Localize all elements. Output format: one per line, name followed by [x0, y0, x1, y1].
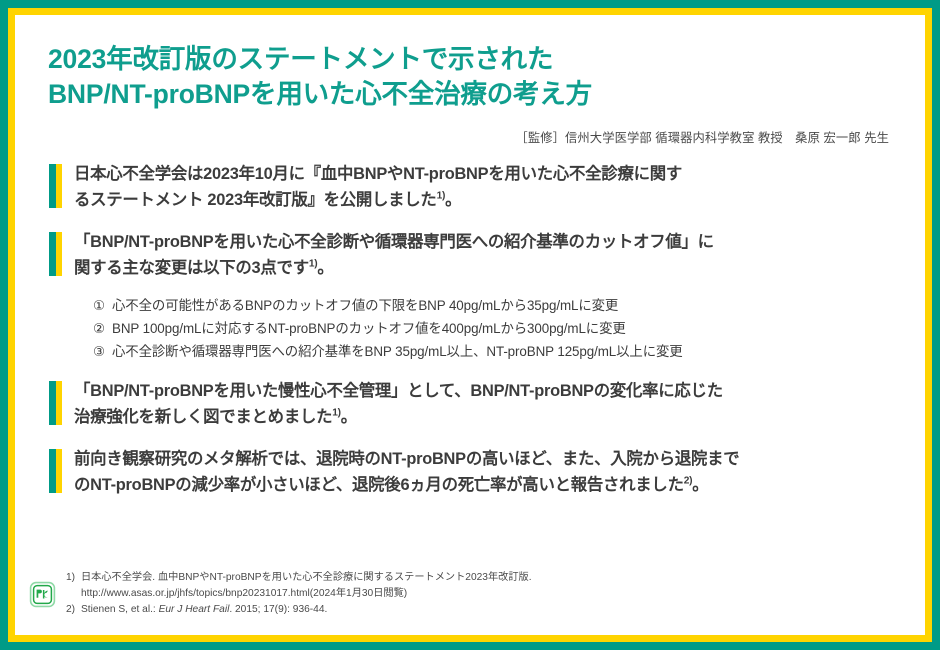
slide-outer-frame: 2023年改訂版のステートメントで示された BNP/NT-proBNPを用いた心… [0, 0, 940, 650]
bullet-text-1-main: 日本心不全学会は2023年10月に『血中BNPやNT-proBNPを用いた心不全… [74, 165, 682, 208]
numbered-list-text-3: 心不全診断や循環器専門医への紹介基準をBNP 35pg/mL以上、NT-proB… [112, 340, 899, 363]
slide-page: 2023年改訂版のステートメントで示された BNP/NT-proBNPを用いた心… [15, 15, 925, 635]
bullet-bar-yellow [56, 381, 62, 425]
numbered-list-marker-1: ① [93, 294, 112, 317]
reference-text-2: Stienen S, et al.: Eur J Heart Fail. 201… [81, 602, 925, 618]
bullet-text-2-main: 「BNP/NT-proBNPを用いた心不全診断や循環器専門医への紹介基準のカット… [74, 233, 714, 276]
bullet-item-3: 「BNP/NT-proBNPを用いた慢性心不全管理」として、BNP/NT-pro… [49, 379, 899, 430]
bullet-bar-teal [49, 449, 56, 493]
numbered-list-marker-2: ② [93, 317, 112, 340]
bullet-bar-teal [49, 381, 56, 425]
reference-citation-2: . 2015; 17(9): 936-44. [229, 604, 327, 615]
numbered-list-item: ③ 心不全診断や循環器専門医への紹介基準をBNP 35pg/mL以上、NT-pr… [93, 340, 899, 363]
slide-footer: 1) 日本心不全学会. 血中BNPやNT-proBNPを用いた心不全診療に関する… [15, 570, 925, 618]
page-title: 2023年改訂版のステートメントで示された BNP/NT-proBNPを用いた心… [48, 42, 897, 112]
bullet-marker-icon [49, 381, 62, 425]
bullet-bar-teal [49, 232, 56, 276]
reference-authors-2: Stienen S, et al.: [81, 604, 159, 615]
reference-journal-2: Eur J Heart Fail [159, 604, 230, 615]
numbered-list-text-2: BNP 100pg/mLに対応するNT-proBNPのカットオフ値を400pg/… [112, 317, 899, 340]
bullet-item-4: 前向き観察研究のメタ解析では、退院時のNT-proBNPの高いほど、また、入院か… [49, 447, 899, 498]
bullet-text-1: 日本心不全学会は2023年10月に『血中BNPやNT-proBNPを用いた心不全… [74, 162, 899, 213]
bullet-text-4: 前向き観察研究のメタ解析では、退院時のNT-proBNPの高いほど、また、入院か… [74, 447, 899, 498]
slide-body: 日本心不全学会は2023年10月に『血中BNPやNT-proBNPを用いた心不全… [15, 146, 925, 498]
bullet-bar-yellow [56, 164, 62, 208]
reference-item-2: 2) Stienen S, et al.: Eur J Heart Fail. … [66, 602, 925, 618]
reference-text-1: 日本心不全学会. 血中BNPやNT-proBNPを用いた心不全診療に関するステー… [81, 570, 925, 586]
reference-url-1[interactable]: http://www.asas.or.jp/jhfs/topics/bnp202… [66, 586, 925, 602]
bullet-ref-sup-3: 1) [332, 407, 341, 418]
pc-logo-icon [29, 581, 56, 608]
bullet-text-3-tail: 。 [341, 408, 357, 426]
bullet-text-2: 「BNP/NT-proBNPを用いた心不全診断や循環器専門医への紹介基準のカット… [74, 230, 899, 281]
reference-number-2: 2) [66, 602, 81, 618]
numbered-list-marker-3: ③ [93, 340, 112, 363]
bullet-text-3: 「BNP/NT-proBNPを用いた慢性心不全管理」として、BNP/NT-pro… [74, 379, 899, 430]
bullet-text-3-main: 「BNP/NT-proBNPを用いた慢性心不全管理」として、BNP/NT-pro… [74, 382, 723, 425]
bullet-ref-sup-4: 2) [684, 475, 693, 486]
bullet-ref-sup-1: 1) [437, 190, 446, 201]
reference-number-1: 1) [66, 570, 81, 586]
bullet-marker-icon [49, 449, 62, 493]
bullet-text-4-main: 前向き観察研究のメタ解析では、退院時のNT-proBNPの高いほど、また、入院か… [74, 450, 739, 493]
bullet-text-4-tail: 。 [692, 476, 708, 494]
bullet-marker-icon [49, 164, 62, 208]
numbered-list-item: ① 心不全の可能性があるBNPのカットオフ値の下限をBNP 40pg/mLから3… [93, 294, 899, 317]
bullet-item-2: 「BNP/NT-proBNPを用いた心不全診断や循環器専門医への紹介基準のカット… [49, 230, 899, 281]
slide-header: 2023年改訂版のステートメントで示された BNP/NT-proBNPを用いた心… [15, 15, 925, 146]
bullet-item-1: 日本心不全学会は2023年10月に『血中BNPやNT-proBNPを用いた心不全… [49, 162, 899, 213]
slide-yellow-frame: 2023年改訂版のステートメントで示された BNP/NT-proBNPを用いた心… [8, 8, 932, 642]
bullet-bar-yellow [56, 449, 62, 493]
bullet-bar-teal [49, 164, 56, 208]
reference-list: 1) 日本心不全学会. 血中BNPやNT-proBNPを用いた心不全診療に関する… [66, 570, 925, 618]
numbered-list-text-1: 心不全の可能性があるBNPのカットオフ値の下限をBNP 40pg/mLから35p… [112, 294, 899, 317]
bullet-marker-icon [49, 232, 62, 276]
numbered-list-item: ② BNP 100pg/mLに対応するNT-proBNPのカットオフ値を400p… [93, 317, 899, 340]
bullet-text-1-tail: 。 [445, 191, 461, 209]
supervisor-credit: ［監修］信州大学医学部 循環器内科学教室 教授 桑原 宏一郎 先生 [48, 128, 897, 146]
numbered-change-list: ① 心不全の可能性があるBNPのカットオフ値の下限をBNP 40pg/mLから3… [93, 294, 899, 363]
reference-item-1: 1) 日本心不全学会. 血中BNPやNT-proBNPを用いた心不全診療に関する… [66, 570, 925, 586]
bullet-bar-yellow [56, 232, 62, 276]
bullet-text-2-tail: 。 [317, 259, 333, 277]
